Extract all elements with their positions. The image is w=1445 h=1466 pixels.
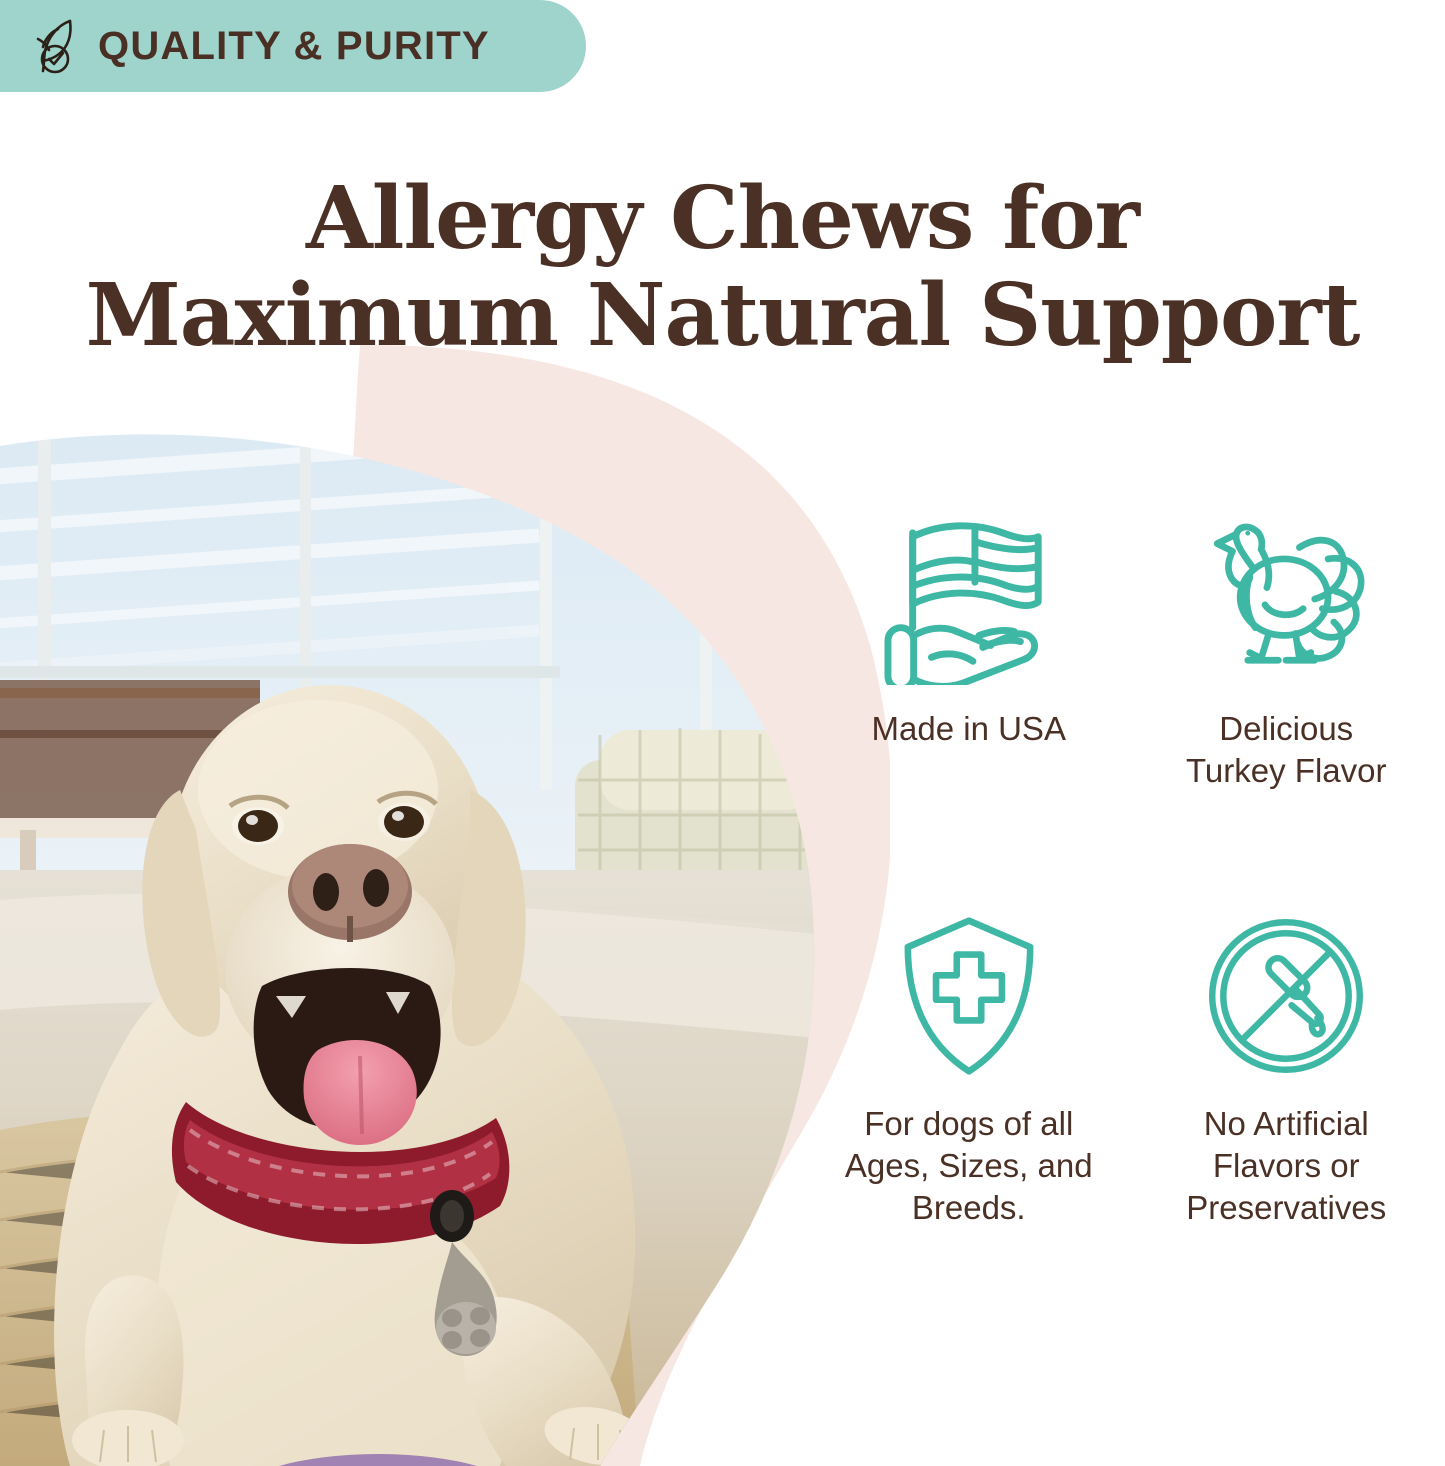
shield-medical-cross-icon xyxy=(889,898,1049,1093)
feature-turkey-flavor: DeliciousTurkey Flavor xyxy=(1128,495,1445,890)
feature-caption: DeliciousTurkey Flavor xyxy=(1186,708,1386,792)
dog-product-photo: Allergy & Itch Defense Soft Chews with C… xyxy=(0,430,835,1466)
product-infographic: Allergy & Itch Defense Soft Chews with C… xyxy=(0,0,1445,1466)
headline-line-1: Allergy Chews for xyxy=(0,171,1445,267)
feature-no-artificial: No ArtificialFlavors orPreservatives xyxy=(1128,890,1445,1285)
feature-caption: Made in USA xyxy=(872,708,1066,750)
quality-purity-banner: QUALITY & PURITY xyxy=(0,0,586,92)
feature-caption: For dogs of allAges, Sizes, andBreeds. xyxy=(845,1103,1093,1230)
feature-made-in-usa: Made in USA xyxy=(810,495,1128,890)
feature-caption: No ArtificialFlavors orPreservatives xyxy=(1186,1103,1386,1230)
feature-all-dogs: For dogs of allAges, Sizes, andBreeds. xyxy=(810,890,1128,1285)
turkey-icon xyxy=(1200,503,1372,698)
usa-flag-in-hand-icon xyxy=(880,503,1058,698)
feature-grid: Made in USA xyxy=(810,495,1445,1285)
page-title: Allergy Chews for Maximum Natural Suppor… xyxy=(0,171,1445,364)
banner-label: QUALITY & PURITY xyxy=(98,26,490,66)
leaf-check-icon xyxy=(28,15,84,77)
no-dropper-icon xyxy=(1203,898,1369,1093)
